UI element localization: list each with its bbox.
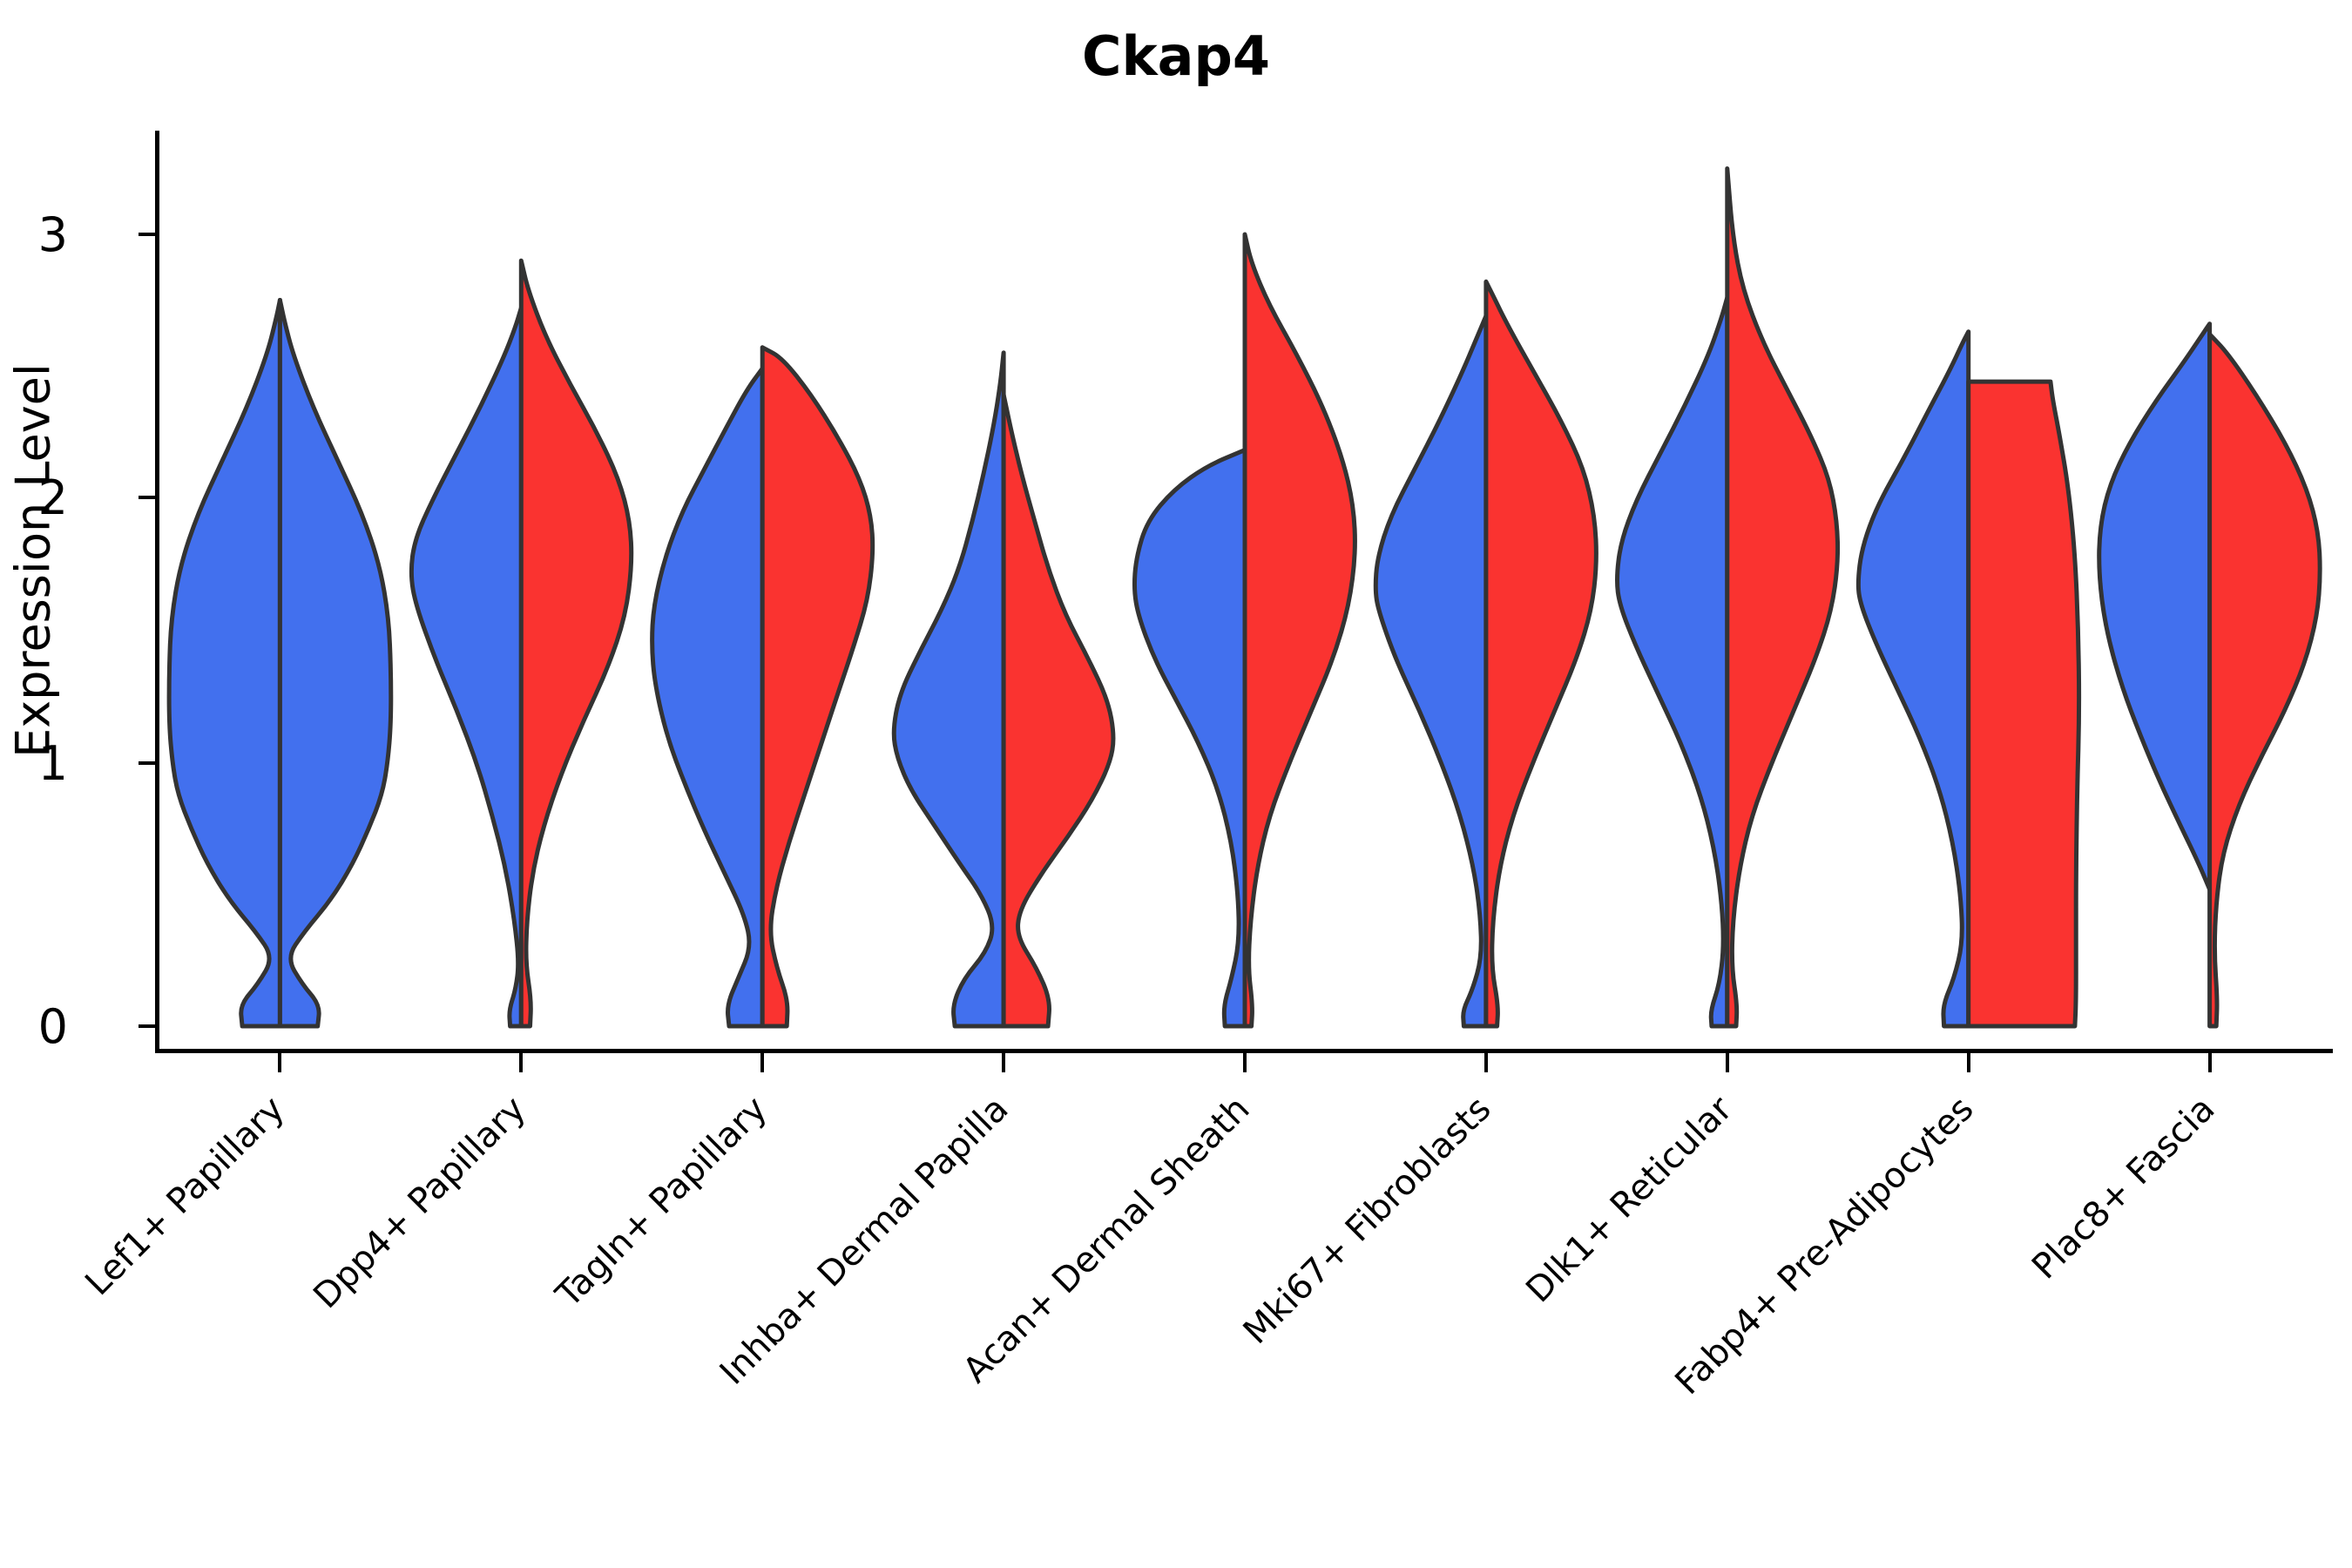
x-tick-mark-5 bbox=[1484, 1053, 1488, 1072]
violin-half-right-6 bbox=[1727, 169, 1838, 1027]
violin-half-right-4 bbox=[1245, 234, 1355, 1026]
violin-half-right-8 bbox=[2210, 335, 2321, 1026]
violin-half-left-8 bbox=[2099, 324, 2210, 889]
violin-half-left-6 bbox=[1617, 298, 1727, 1027]
x-tick-mark-8 bbox=[2208, 1053, 2212, 1072]
violin-half-right-2 bbox=[762, 348, 872, 1026]
violin-half-left-1 bbox=[411, 308, 521, 1027]
x-tick-mark-4 bbox=[1243, 1053, 1247, 1072]
violin-half-right-1 bbox=[521, 260, 631, 1026]
violin-half-left-2 bbox=[652, 368, 763, 1026]
x-tick-mark-2 bbox=[760, 1053, 764, 1072]
violin-half-left-5 bbox=[1375, 316, 1486, 1026]
violin-half-left-3 bbox=[894, 353, 1004, 1026]
violin-plot-figure: Ckap4 Expression Level 3 2 1 0 Lef1+ Pap… bbox=[0, 0, 2352, 1568]
violin-half-left-0 bbox=[169, 301, 280, 1027]
x-tick-mark-0 bbox=[278, 1053, 281, 1072]
violin-half-right-5 bbox=[1486, 281, 1596, 1026]
violin-canvas bbox=[0, 0, 2352, 1568]
x-tick-mark-1 bbox=[519, 1053, 523, 1072]
x-tick-mark-6 bbox=[1726, 1053, 1729, 1072]
violin-half-right-3 bbox=[1004, 395, 1113, 1026]
x-tick-mark-3 bbox=[1002, 1053, 1005, 1072]
x-tick-mark-7 bbox=[1967, 1053, 1970, 1072]
violin-half-right-7 bbox=[1969, 382, 2079, 1026]
violin-half-right-0 bbox=[280, 301, 390, 1027]
violin-half-left-4 bbox=[1134, 450, 1245, 1026]
violin-half-left-7 bbox=[1858, 332, 1968, 1026]
